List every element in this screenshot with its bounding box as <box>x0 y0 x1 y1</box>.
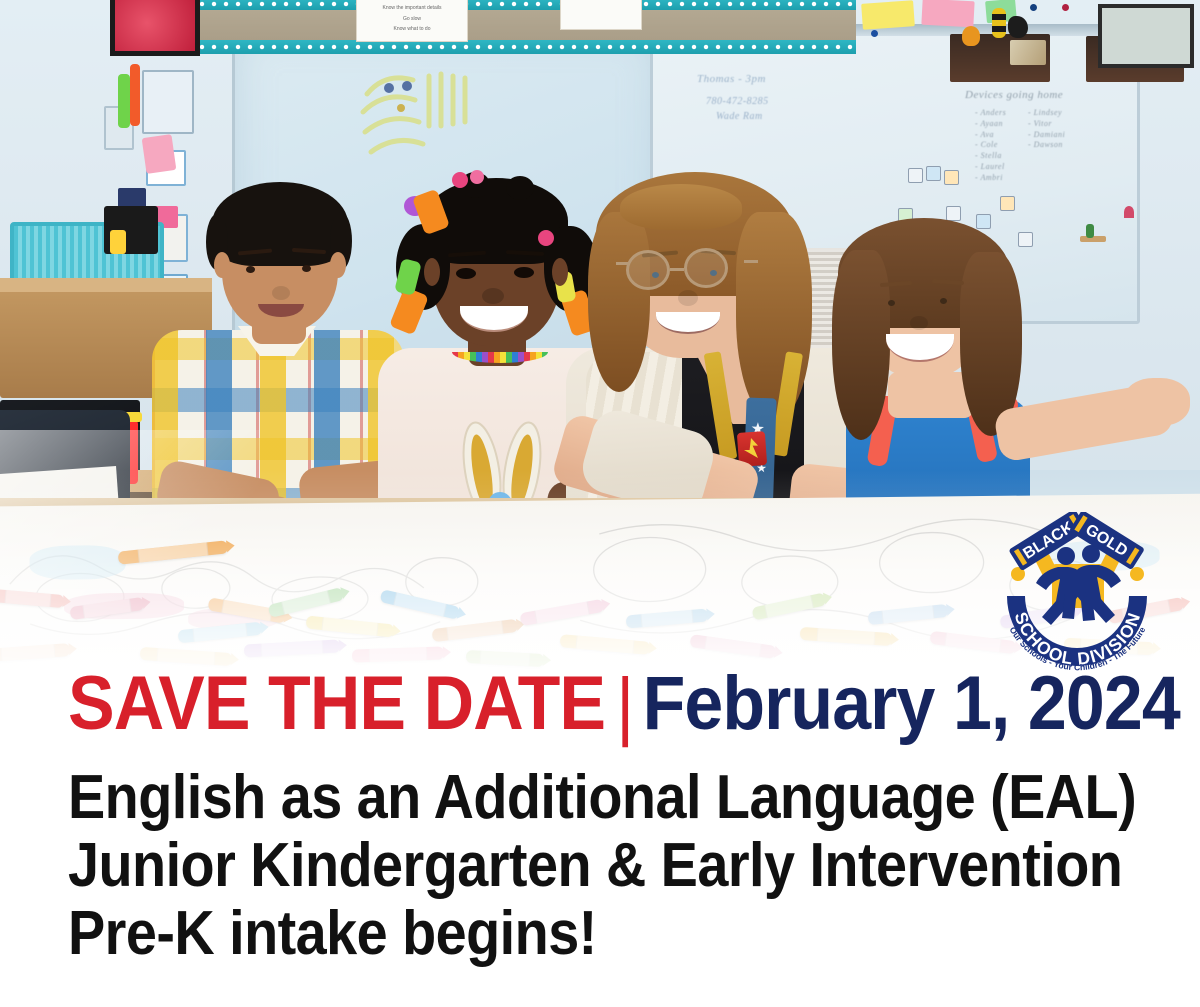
colored-area <box>29 545 125 580</box>
framed-artwork <box>1098 4 1194 68</box>
shelf-top <box>0 278 212 292</box>
classroom-photo: Thomas - 3pm 780-472-8285 Wade Ram Devic… <box>0 0 1200 700</box>
headline-date: February 1, 2024 <box>643 661 1180 746</box>
nose <box>910 316 928 330</box>
paper-cutout <box>142 134 177 174</box>
devices-list-right: - Lindsey - Vitor - Damiani - Dawson <box>1028 108 1065 151</box>
bulletin-board-trim-top <box>196 0 856 10</box>
ear <box>424 258 440 286</box>
instruction-card: Know the important detailsGo slowKnow wh… <box>356 0 468 42</box>
magnet-tile <box>946 206 961 221</box>
whiteboard-note-line1: Thomas - 3pm <box>697 72 766 87</box>
push-pin <box>1062 4 1069 11</box>
devices-list-title: Devices going home <box>965 88 1063 103</box>
eye <box>888 300 895 306</box>
poster-body-line-3: Pre-K intake begins! <box>68 903 597 965</box>
chest <box>888 372 974 418</box>
hair-bead <box>538 230 554 246</box>
wall-chart <box>142 70 194 134</box>
hair-right <box>736 212 812 422</box>
yellow-item <box>110 230 126 254</box>
hair <box>212 182 348 266</box>
marker <box>118 74 130 128</box>
headline-divider: | <box>616 663 633 748</box>
push-pin <box>871 30 878 37</box>
magnet-tile <box>976 214 991 229</box>
magnet-tile <box>926 166 941 181</box>
nose <box>272 286 290 300</box>
instruction-card <box>560 0 642 30</box>
hair-puff <box>506 176 534 200</box>
plush-toy <box>962 26 980 46</box>
smiley-doodle-icon <box>345 60 485 180</box>
board-figure <box>1086 224 1094 238</box>
eyeglasses <box>626 250 756 294</box>
hair-left <box>832 250 890 440</box>
bulletin-board-trim-bottom <box>196 40 856 54</box>
ear <box>552 258 568 286</box>
magnet-tile <box>1000 196 1015 211</box>
hair-bangs <box>620 184 742 230</box>
eye <box>302 265 311 272</box>
sticky-note <box>861 0 915 30</box>
eye <box>514 267 534 278</box>
eye <box>246 266 255 273</box>
headline-emphasis: SAVE THE DATE <box>68 661 605 746</box>
hand <box>1124 378 1190 426</box>
poster-root: Thomas - 3pm 780-472-8285 Wade Ram Devic… <box>0 0 1200 1007</box>
poster-text-block: SAVE THE DATE|February 1, 2024 English a… <box>0 650 1200 1007</box>
magnet-tile <box>1018 232 1033 247</box>
nose <box>482 288 504 304</box>
eye <box>940 298 947 304</box>
hair-left <box>588 212 650 392</box>
eye <box>456 268 476 279</box>
poster-body-line-1: English as an Additional Language (EAL) <box>68 767 1136 829</box>
magnet-tile <box>908 168 923 183</box>
framed-red-poster <box>110 0 200 56</box>
sticky-note <box>921 0 974 27</box>
marker <box>130 64 140 126</box>
devices-list-left: - Anders - Ayaan - Ava - Cole - Stella -… <box>975 108 1006 184</box>
board-figure <box>1124 206 1134 218</box>
push-pin <box>1030 4 1037 11</box>
hair-bead <box>470 170 484 184</box>
magnet-tile <box>944 170 959 185</box>
whiteboard-note-line2: 780-472-8285 <box>706 95 769 109</box>
black-gold-school-division-logo: SCHOOL DIVISION Our Schools - Your Child… <box>995 512 1160 672</box>
plush-bee <box>992 8 1006 38</box>
whiteboard-note-line3: Wade Ram <box>716 110 763 124</box>
hair-bead <box>452 172 468 188</box>
ear <box>330 252 346 278</box>
poster-headline: SAVE THE DATE|February 1, 2024 <box>68 666 1180 742</box>
poster-body-line-2: Junior Kindergarten & Early Intervention <box>68 835 1122 897</box>
ear <box>214 252 230 278</box>
plush-toy <box>1008 16 1028 38</box>
